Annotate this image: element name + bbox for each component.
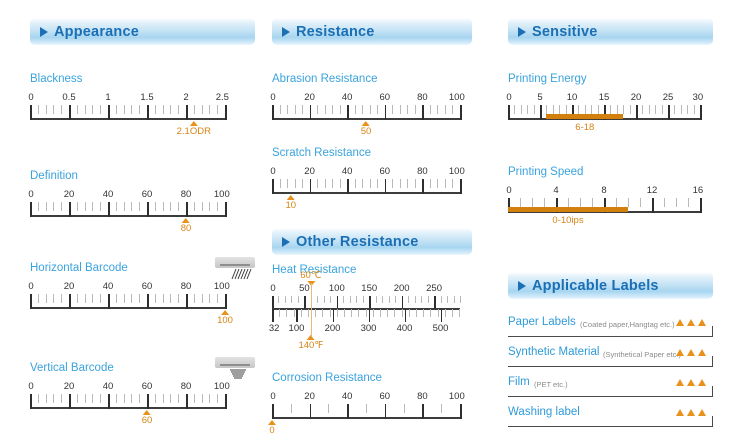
tick-label: 20 [631, 92, 642, 103]
tick-label: 80 [417, 92, 428, 103]
tick-label: 100 [449, 391, 465, 402]
ruler-vertical-barcode[interactable]: 02040608010060 [30, 381, 225, 409]
ruler-definition[interactable]: 02040608010080 [30, 189, 225, 217]
rating-triangle-icon [676, 379, 684, 386]
tick-label: 150 [361, 283, 377, 294]
label-name: Washing label [508, 406, 580, 418]
metric-scratch-resistance: Scratch Resistance 02040608010010 [272, 146, 472, 194]
range-value-label: 0-10ips [552, 215, 583, 226]
rating-triangle-icon [687, 319, 695, 326]
ruler-tick-labels: 0481216 [508, 185, 700, 198]
rating-triangles [676, 349, 706, 356]
metric-label: Definition [30, 169, 255, 183]
tick-label: 100 [289, 323, 305, 334]
row-underline [508, 366, 713, 367]
tick-label: 32 [269, 323, 280, 334]
ruler-scale[interactable] [272, 179, 460, 194]
value-marker-fahrenheit: 140℉ [298, 335, 323, 351]
tick-label: 40 [342, 166, 353, 177]
triangle-right-icon [518, 281, 526, 291]
section-header-sensitive[interactable]: Sensitive [508, 18, 713, 45]
barcode-printer-vertical-icon [215, 357, 255, 382]
rating-triangle-icon [687, 349, 695, 356]
section-applicable-labels: Applicable Labels [508, 272, 713, 305]
tick-label: 20 [304, 391, 315, 402]
ruler-tick-labels: 00.511.522.5 [30, 92, 225, 105]
ruler-scale[interactable] [30, 394, 225, 409]
tick-label: 60 [142, 381, 153, 392]
section-title: Resistance [296, 24, 375, 40]
tick-label: 0 [28, 281, 33, 292]
tick-label: 30 [693, 92, 704, 103]
marker-value: 60 [142, 415, 153, 426]
section-header-resistance[interactable]: Resistance [272, 18, 472, 45]
tick-label: 20 [304, 166, 315, 177]
applicable-label-row[interactable]: Synthetic Material(Synthetical Paper etc… [508, 345, 713, 369]
ruler-horizontal-barcode[interactable]: 020406080100100 [30, 281, 225, 309]
tick-label: 2.5 [216, 92, 229, 103]
rating-triangle-icon [687, 379, 695, 386]
tick-label: 80 [417, 391, 428, 402]
tick-label: 60 [380, 391, 391, 402]
value-marker: 100 [217, 310, 233, 326]
tick-label: 25 [663, 92, 674, 103]
ruler-scale[interactable] [30, 105, 225, 120]
metric-label: Printing Energy [508, 72, 713, 86]
range-value-label: 6-18 [575, 122, 594, 133]
ruler-tick-labels: 020406080100 [272, 166, 460, 179]
section-title: Sensitive [532, 24, 597, 40]
ruler-tick-labels: 020406080100 [272, 92, 460, 105]
metric-label: Scratch Resistance [272, 146, 472, 160]
tick-label: 250 [426, 283, 442, 294]
tick-label: 0 [506, 185, 511, 196]
tick-label: 80 [181, 281, 192, 292]
barcode-printer-horizontal-icon [215, 257, 255, 282]
ruler-scale[interactable] [508, 198, 700, 213]
range-bar [546, 114, 623, 119]
metric-corrosion-resistance: Corrosion Resistance 0204060801000 [272, 371, 472, 419]
tick-label: 20 [64, 189, 75, 200]
metric-label: Printing Speed [508, 165, 713, 179]
row-end-cap [712, 416, 713, 427]
ruler-corrosion[interactable]: 0204060801000 [272, 391, 460, 419]
section-title: Appearance [54, 24, 139, 40]
tick-label: 0 [506, 92, 511, 103]
label-sublabel: (Coated paper,Hangtag etc.) [580, 320, 675, 329]
ruler-printing-speed[interactable]: 04812160-10ips [508, 185, 700, 213]
tick-label: 40 [103, 189, 114, 200]
range-bar [508, 207, 628, 212]
section-sensitive: Sensitive [508, 18, 713, 51]
rating-triangle-icon [687, 409, 695, 416]
tick-label: 40 [342, 92, 353, 103]
tick-label: 300 [361, 323, 377, 334]
tick-label: 12 [647, 185, 658, 196]
row-underline [508, 336, 713, 337]
section-title: Applicable Labels [532, 278, 659, 294]
label-name: Film [508, 376, 530, 388]
rating-triangle-icon [698, 349, 706, 356]
triangle-right-icon [518, 27, 526, 37]
tick-label: 60 [142, 189, 153, 200]
marker-guide-line [311, 283, 312, 336]
tick-label: 200 [325, 323, 341, 334]
marker-value: 60℃ [300, 270, 321, 281]
rating-triangle-icon [698, 319, 706, 326]
rating-triangle-icon [676, 409, 684, 416]
tick-label: 4 [553, 185, 558, 196]
rating-triangles [676, 319, 706, 326]
marker-value: 50 [361, 126, 372, 137]
rating-triangles [676, 409, 706, 416]
tick-label: 0 [270, 283, 275, 294]
tick-label: 40 [103, 381, 114, 392]
tick-label: 0.5 [62, 92, 75, 103]
tick-label: 0 [28, 381, 33, 392]
marker-value: 2.1ODR [177, 126, 211, 137]
ruler-scratch[interactable]: 02040608010010 [272, 166, 460, 194]
tick-label: 40 [342, 391, 353, 402]
value-marker: 2.1ODR [177, 121, 211, 137]
tick-label: 60 [380, 92, 391, 103]
tick-label: 60 [380, 166, 391, 177]
metric-printing-energy: Printing Energy 0510152025306-18 [508, 72, 713, 120]
metric-horizontal-barcode: Horizontal Barcode 020406080100100 [30, 261, 255, 309]
tick-label: 500 [433, 323, 449, 334]
section-header-appearance[interactable]: Appearance [30, 18, 255, 45]
rating-triangle-icon [676, 349, 684, 356]
tick-label: 1 [105, 92, 110, 103]
tick-label: 2 [183, 92, 188, 103]
tick-label: 0 [28, 92, 33, 103]
applicable-label-row[interactable]: Paper Labels(Coated paper,Hangtag etc.) [508, 315, 713, 339]
section-header-other-resistance[interactable]: Other Resistance [272, 228, 472, 255]
marker-value: 100 [217, 315, 233, 326]
ruler-scale[interactable] [272, 105, 460, 120]
row-end-cap [712, 326, 713, 337]
section-appearance: Appearance [30, 18, 255, 51]
tick-label: 0 [270, 166, 275, 177]
ruler-tick-labels: 020406080100 [30, 381, 225, 394]
tick-label: 8 [601, 185, 606, 196]
tick-label: 0 [28, 189, 33, 200]
row-underline [508, 396, 713, 397]
marker-value: 10 [286, 200, 297, 211]
row-underline [508, 426, 713, 427]
tick-label: 60 [142, 281, 153, 292]
metric-vertical-barcode: Vertical Barcode 02040608010060 [30, 361, 255, 409]
metric-label: Corrosion Resistance [272, 371, 472, 385]
tick-label: 0 [270, 92, 275, 103]
ruler-abrasion[interactable]: 02040608010050 [272, 92, 460, 120]
ruler-scale[interactable] [30, 294, 225, 309]
value-marker: 80 [181, 218, 192, 234]
row-end-cap [712, 386, 713, 397]
ruler-tick-labels: 051015202530 [508, 92, 700, 105]
tick-label: 20 [304, 92, 315, 103]
tick-label: 80 [417, 166, 428, 177]
rating-triangle-icon [698, 409, 706, 416]
tick-label: 100 [214, 381, 230, 392]
tick-label: 20 [64, 381, 75, 392]
applicable-label-row[interactable]: Washing label [508, 405, 713, 429]
tick-label: 15 [599, 92, 610, 103]
metric-label: Blackness [30, 72, 255, 86]
ruler-tick-labels: 020406080100 [272, 391, 460, 404]
rating-triangle-icon [676, 319, 684, 326]
value-marker: 60 [142, 410, 153, 426]
section-other-resistance: Other Resistance [272, 228, 472, 261]
tick-label: 1.5 [140, 92, 153, 103]
label-sublabel: (PET etc.) [534, 380, 568, 389]
ruler-scale[interactable] [30, 202, 225, 217]
marker-value: 0 [268, 425, 276, 436]
tick-label: 100 [329, 283, 345, 294]
rating-triangles [676, 379, 706, 386]
metric-label: Abrasion Resistance [272, 72, 472, 86]
ruler-printing-energy[interactable]: 0510152025306-18 [508, 92, 700, 120]
tick-label: 16 [693, 185, 704, 196]
metric-blackness: Blackness 00.511.522.52.1ODR [30, 72, 255, 120]
row-end-cap [712, 356, 713, 367]
tick-label: 80 [181, 189, 192, 200]
label-sublabel: (Synthetical Paper etc.) [603, 350, 681, 359]
metric-definition: Definition 02040608010080 [30, 169, 255, 217]
ruler-heat[interactable]: 0501001502002503210020030040050060℃140℉ [272, 283, 460, 335]
tick-label: 100 [214, 281, 230, 292]
value-marker: 50 [361, 121, 372, 137]
rating-triangle-icon [698, 379, 706, 386]
metric-printing-speed: Printing Speed 04812160-10ips [508, 165, 713, 213]
ruler-scale[interactable] [272, 296, 460, 322]
triangle-right-icon [282, 237, 290, 247]
triangle-right-icon [40, 27, 48, 37]
label-name: Paper Labels [508, 316, 576, 328]
tick-label: 100 [449, 92, 465, 103]
marker-value: 140℉ [298, 340, 323, 351]
tick-label: 80 [181, 381, 192, 392]
metric-abrasion-resistance: Abrasion Resistance 02040608010050 [272, 72, 472, 120]
section-header-applicable-labels[interactable]: Applicable Labels [508, 272, 713, 299]
tick-label: 0 [270, 391, 275, 402]
marker-value: 80 [181, 223, 192, 234]
tick-label: 200 [394, 283, 410, 294]
tick-label: 100 [449, 166, 465, 177]
value-marker: 0 [268, 420, 276, 436]
value-marker: 10 [286, 195, 297, 211]
section-resistance: Resistance [272, 18, 472, 51]
applicable-label-row[interactable]: Film(PET etc.) [508, 375, 713, 399]
ruler-scale[interactable] [508, 105, 700, 120]
section-title: Other Resistance [296, 234, 418, 250]
ruler-tick-labels-fahrenheit: 32100200300400500 [272, 322, 460, 335]
ruler-scale[interactable] [272, 404, 460, 419]
tick-label: 20 [64, 281, 75, 292]
tick-label: 40 [103, 281, 114, 292]
ruler-blackness[interactable]: 00.511.522.52.1ODR [30, 92, 225, 120]
tick-label: 100 [214, 189, 230, 200]
tick-label: 400 [397, 323, 413, 334]
metric-heat-resistance: Heat Resistance 050100150200250321002003… [272, 263, 472, 335]
triangle-right-icon [282, 27, 290, 37]
label-name: Synthetic Material [508, 346, 599, 358]
applicable-labels-list: Paper Labels(Coated paper,Hangtag etc.)S… [508, 315, 713, 435]
ruler-tick-labels: 020406080100 [30, 281, 225, 294]
tick-label: 5 [537, 92, 542, 103]
tick-label: 10 [567, 92, 578, 103]
ruler-tick-labels: 020406080100 [30, 189, 225, 202]
